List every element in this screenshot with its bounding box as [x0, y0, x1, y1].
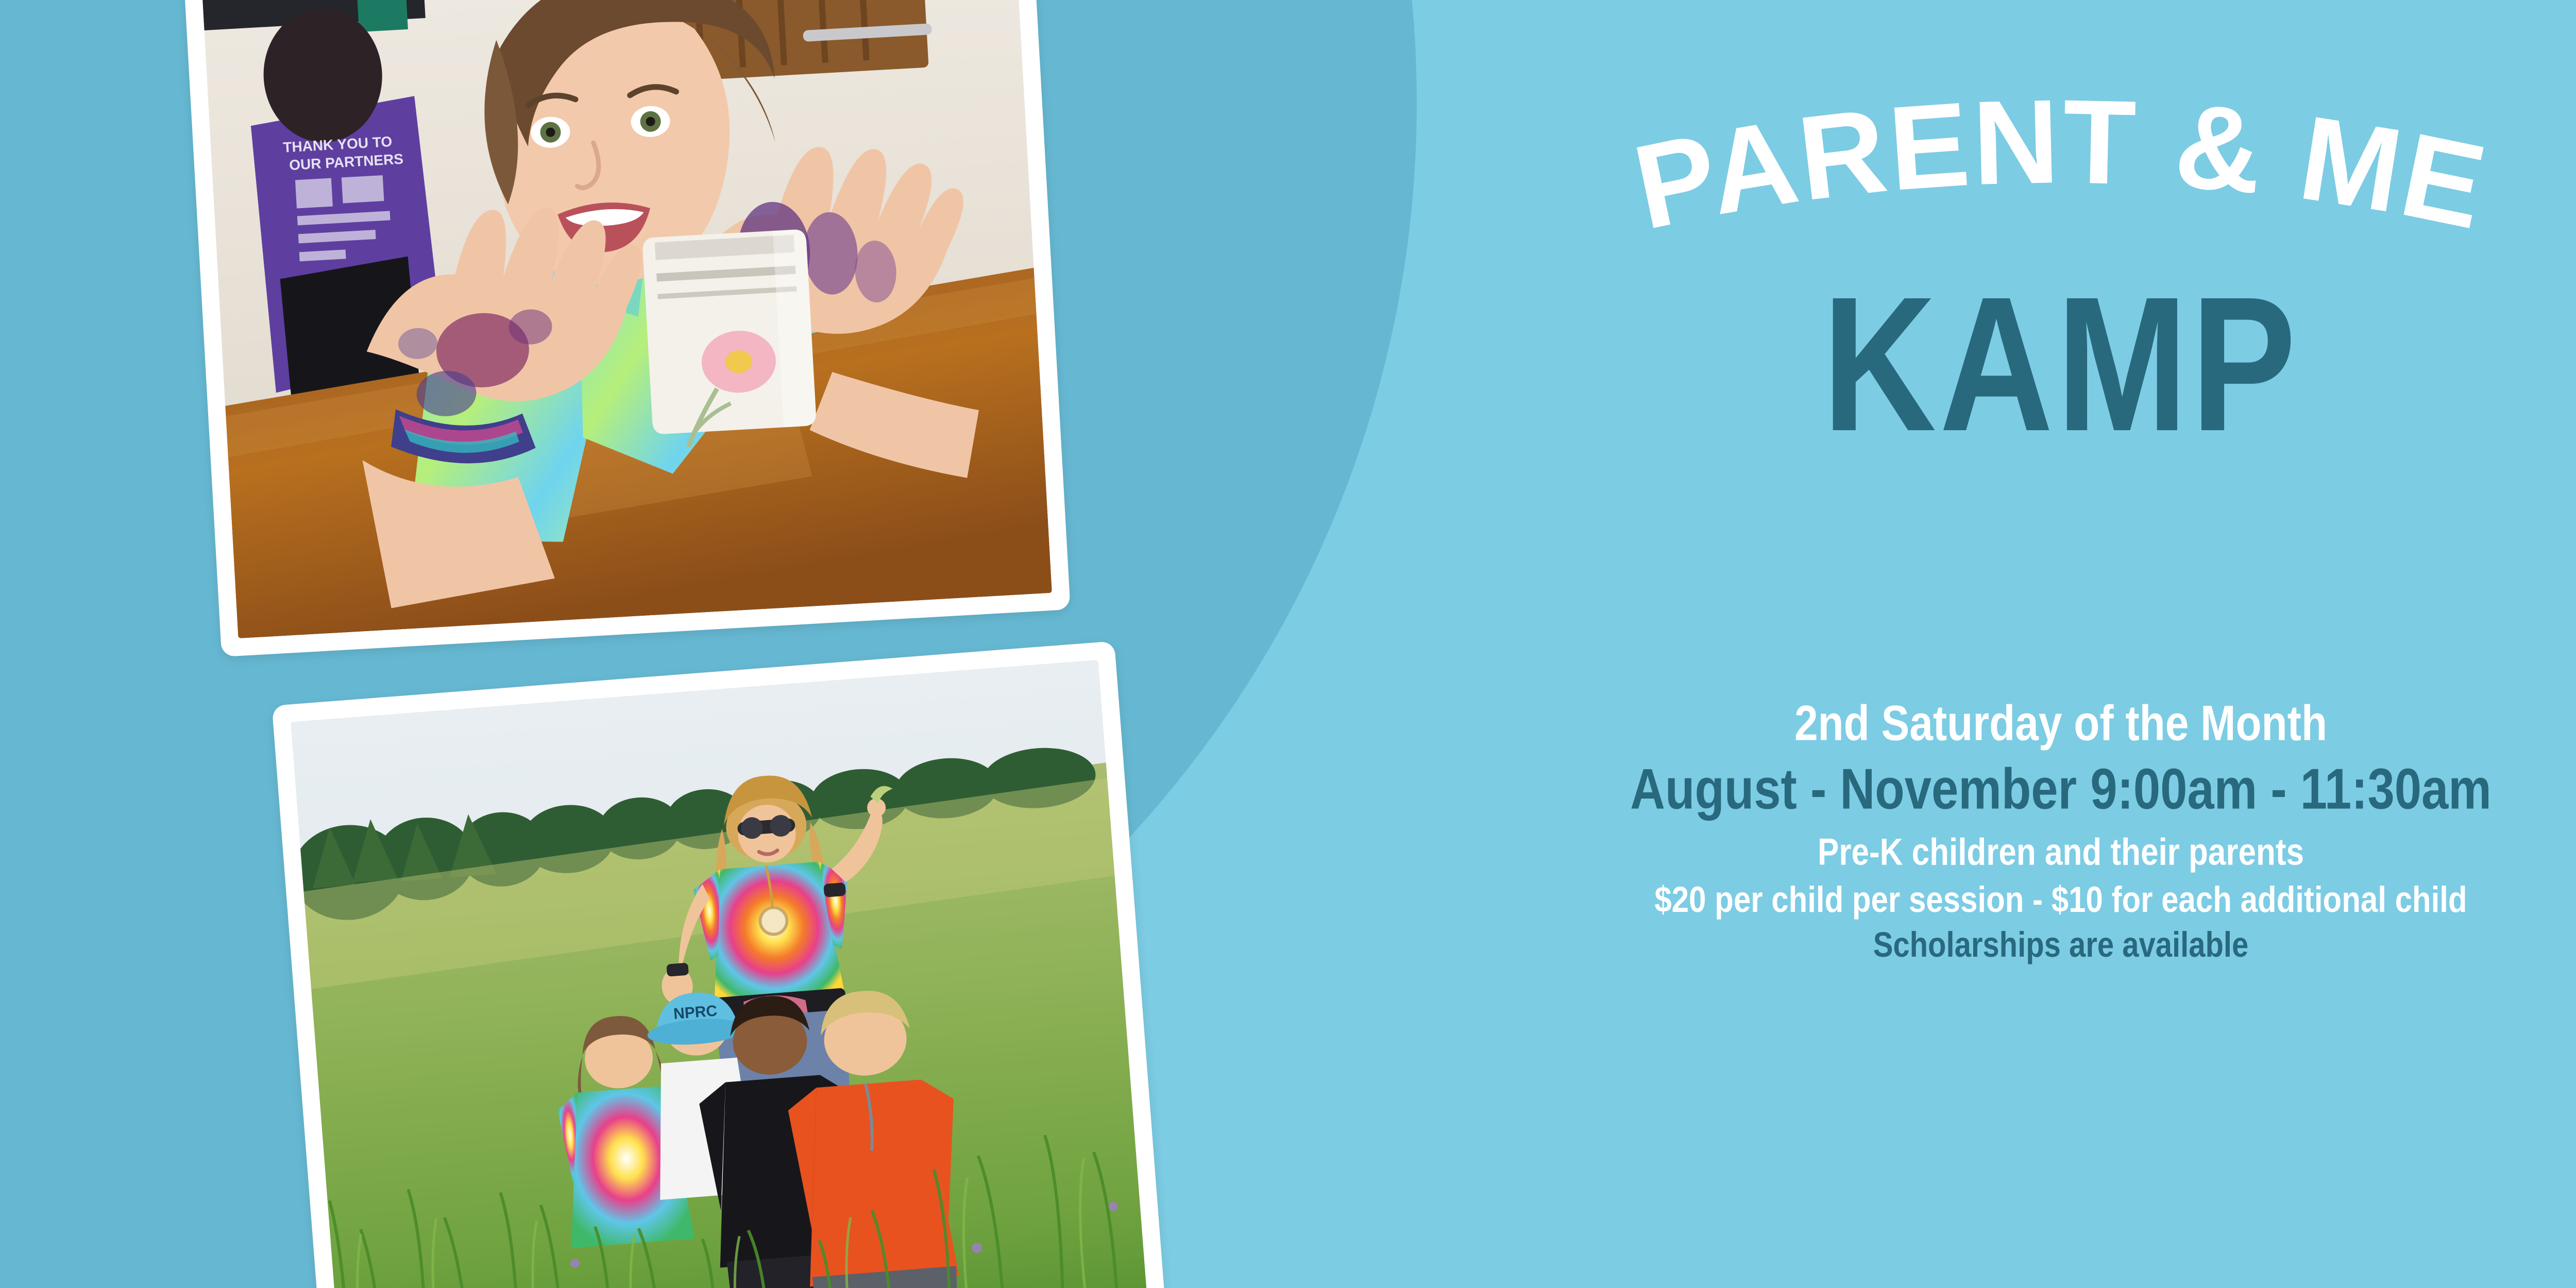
illustration-girl-purple-hands: THANK YOU TO OUR PARTNERS — [200, 0, 1052, 638]
svg-text:NPRC: NPRC — [673, 1002, 718, 1022]
photo-field-walk: NPRC — [272, 641, 1171, 1288]
photo-image-girl-purple-hands: THANK YOU TO OUR PARTNERS — [200, 0, 1052, 638]
illustration-field-walk: NPRC — [291, 660, 1152, 1288]
detail-saturday: 2nd Saturday of the Month — [1108, 698, 2576, 749]
detail-dates-times: August - November 9:00am - 11:30am — [1108, 760, 2576, 818]
center-content: PARENT & ME KAMP 2nd Saturday of the Mon… — [1108, 0, 2576, 1288]
detail-price: $20 per child per session - $10 for each… — [1108, 881, 2576, 918]
details-block: 2nd Saturday of the Month August - Novem… — [1108, 698, 2576, 957]
promo-banner: THANK YOU TO OUR PARTNERS — [0, 0, 2576, 1288]
headline-line1: PARENT & ME — [1624, 75, 2498, 255]
detail-scholarships: Scholarships are available — [1108, 927, 2576, 963]
headline-line2-kamp: KAMP — [1089, 268, 2576, 460]
photo-image-field-walk: NPRC — [291, 660, 1152, 1288]
detail-audience: Pre-K children and their parents — [1108, 833, 2576, 872]
photo-girl-purple-hands: THANK YOU TO OUR PARTNERS — [181, 0, 1071, 657]
